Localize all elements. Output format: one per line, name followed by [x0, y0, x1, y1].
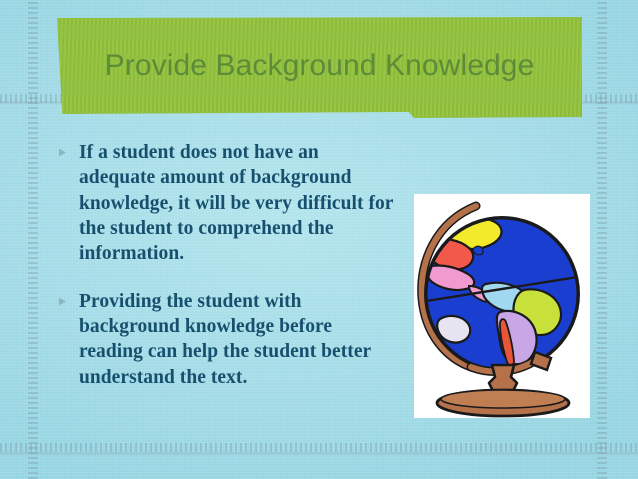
bullet-item: Providing the student with background kn… [58, 289, 398, 390]
triangle-bullet-icon [58, 148, 67, 157]
title-banner: Provide Background Knowledge [57, 17, 582, 118]
bullet-item: If a student does not have an adequate a… [58, 140, 398, 267]
slide-canvas: Provide Background Knowledge If a studen… [0, 0, 638, 479]
body-content: If a student does not have an adequate a… [58, 140, 398, 412]
globe-clipart-image [414, 194, 590, 418]
stitch-line-vertical-right [597, 0, 607, 479]
stitch-line-vertical-left [28, 0, 38, 479]
slide-title: Provide Background Knowledge [90, 47, 550, 89]
land-speck-upper-right [559, 223, 573, 237]
globe-base-top [441, 390, 565, 408]
stitch-line-horizontal-bottom [0, 443, 638, 452]
land-speck-small [473, 246, 483, 255]
bullet-text: Providing the student with background kn… [79, 289, 398, 390]
triangle-bullet-icon [58, 297, 67, 306]
bullet-text: If a student does not have an adequate a… [79, 140, 398, 267]
seam-band-bottom [0, 452, 638, 455]
globe-illustration [414, 194, 590, 418]
